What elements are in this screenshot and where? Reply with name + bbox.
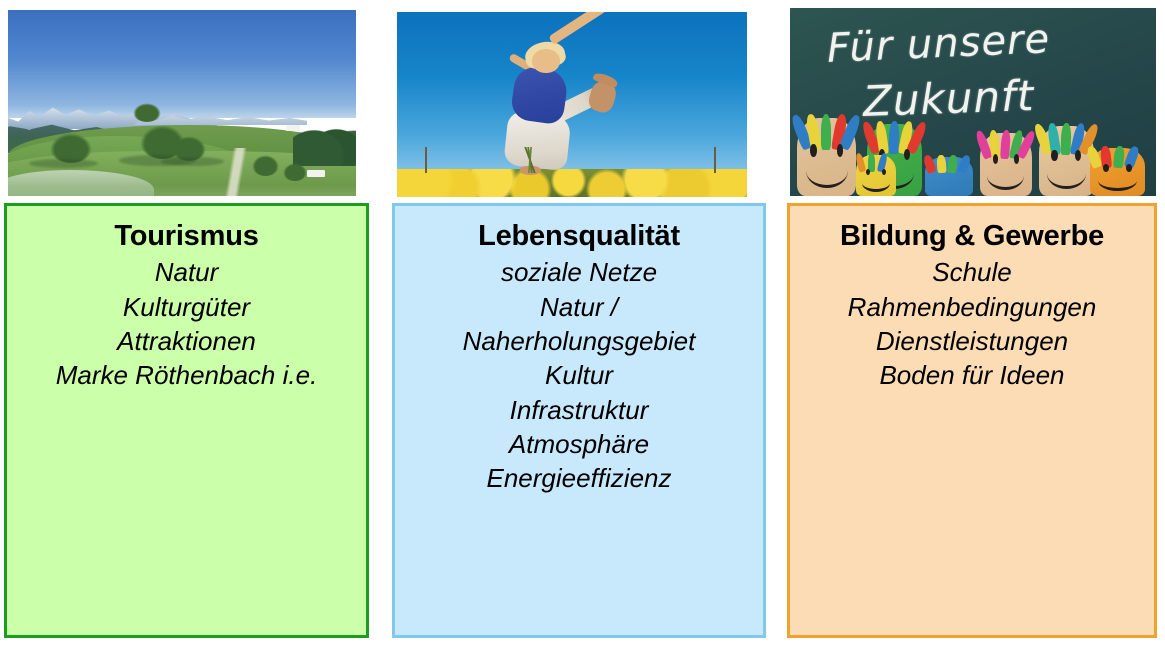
panel-list-lebensqualitaet: soziale Netze Natur / Naherholungsgebiet… [395, 255, 763, 495]
panel-list-bildung-gewerbe: Schule Rahmenbedingungen Dienstleistunge… [790, 255, 1154, 392]
flower-field [397, 169, 747, 197]
fence-post [425, 147, 427, 173]
tree [50, 133, 92, 163]
tree [133, 103, 161, 122]
alpine-landscape-photo [8, 10, 356, 196]
list-item: Energieeffizienz [395, 461, 763, 495]
list-item: Dienstleistungen [790, 324, 1154, 358]
painted-hand [1090, 148, 1145, 196]
panel-tourismus: Tourismus Natur Kulturgüter Attraktionen… [4, 203, 369, 638]
chalkboard-painted-hands-photo: Für unsere Zukunft [790, 8, 1156, 196]
painted-hands-group [790, 87, 1156, 196]
smiley-mouth [862, 174, 891, 192]
three-pillar-diagram: Tourismus Natur Kulturgüter Attraktionen… [0, 0, 1165, 651]
column-tourismus: Tourismus Natur Kulturgüter Attraktionen… [0, 0, 379, 651]
finger [923, 154, 937, 174]
painted-hand [980, 133, 1031, 196]
tree-shadow [29, 159, 99, 168]
column-bildung-gewerbe: Für unsere Zukunft [781, 0, 1165, 651]
painted-hand [1039, 126, 1094, 196]
list-item: Kultur [395, 358, 763, 392]
list-item: Kulturgüter [7, 290, 366, 324]
list-item: Marke Röthenbach i.e. [7, 358, 366, 392]
finger [821, 114, 832, 150]
sky-region [397, 12, 747, 175]
list-item: Schule [790, 255, 1154, 289]
list-item: Infrastruktur [395, 393, 763, 427]
list-item: soziale Netze [395, 255, 763, 289]
panel-bildung-gewerbe: Bildung & Gewerbe Schule Rahmenbedingung… [787, 203, 1157, 638]
list-item: Naherholungsgebiet [395, 324, 763, 358]
panel-title-tourismus: Tourismus [7, 220, 366, 253]
farm-house [307, 170, 324, 177]
tree [252, 155, 280, 175]
list-item: Rahmenbedingungen [790, 290, 1154, 324]
painted-hand [797, 118, 856, 197]
right-forest [293, 114, 356, 166]
painted-hand [856, 155, 896, 196]
panel-list-tourismus: Natur Kulturgüter Attraktionen Marke Röt… [7, 255, 366, 392]
list-item: Atmosphäre [395, 427, 763, 461]
finger [947, 155, 958, 174]
sky-region [8, 10, 356, 118]
smiley-mouth [1098, 170, 1138, 191]
painted-hand [925, 157, 973, 196]
list-item: Attraktionen [7, 324, 366, 358]
fence-post [714, 147, 716, 173]
smiley-mouth [806, 154, 848, 189]
jumping-woman-photo [397, 12, 747, 197]
head [532, 49, 560, 73]
column-lebensqualitaet: Lebensqualität soziale Netze Natur / Nah… [390, 0, 769, 651]
grass-tuft [502, 147, 558, 173]
tree [283, 163, 307, 182]
list-item: Boden für Ideen [790, 358, 1154, 392]
smiley-mouth [987, 162, 1024, 190]
smiley-mouth [1047, 158, 1087, 189]
finger [957, 154, 971, 174]
panel-lebensqualitaet: Lebensqualität soziale Netze Natur / Nah… [392, 203, 766, 638]
panel-title-bildung-gewerbe: Bildung & Gewerbe [790, 220, 1154, 253]
finger [855, 152, 867, 172]
list-item: Natur / [395, 290, 763, 324]
panel-title-lebensqualitaet: Lebensqualität [395, 220, 763, 253]
list-item: Natur [7, 255, 366, 289]
farm-house [286, 125, 300, 131]
finger [936, 155, 946, 174]
